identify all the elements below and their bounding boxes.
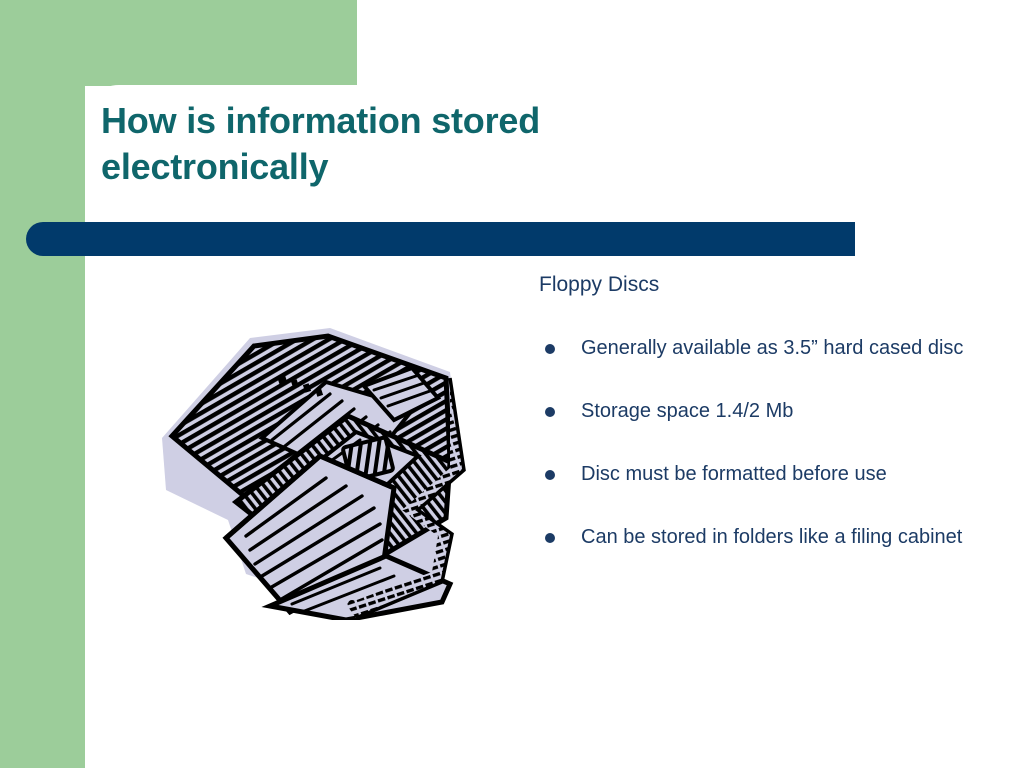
green-accent-panel-left (0, 0, 85, 768)
floppy-discs-illustration (150, 320, 490, 620)
list-item-label: Storage space 1.4/2 Mb (581, 400, 793, 422)
page-title: How is information stored electronically (101, 98, 841, 190)
list-item-label: Can be stored in folders like a filing c… (581, 526, 962, 548)
bullet-dot-icon (545, 533, 555, 543)
bullet-dot-icon (545, 344, 555, 354)
list-item-label: Disc must be formatted before use (581, 463, 887, 485)
list-item: Storage space 1.4/2 Mb (539, 397, 969, 426)
list-item-label: Generally available as 3.5” hard cased d… (581, 337, 963, 359)
bullet-list: Generally available as 3.5” hard cased d… (539, 334, 969, 552)
title-underline-bar (26, 222, 855, 256)
bullet-dot-icon (545, 470, 555, 480)
slide-canvas: How is information stored electronically (0, 0, 1024, 768)
list-item: Disc must be formatted before use (539, 460, 969, 489)
list-item: Can be stored in folders like a filing c… (539, 523, 969, 552)
list-item: Generally available as 3.5” hard cased d… (539, 334, 969, 363)
content-heading: Floppy Discs (539, 272, 969, 298)
body-content-column: Floppy Discs Generally available as 3.5”… (539, 272, 969, 552)
bullet-dot-icon (545, 407, 555, 417)
